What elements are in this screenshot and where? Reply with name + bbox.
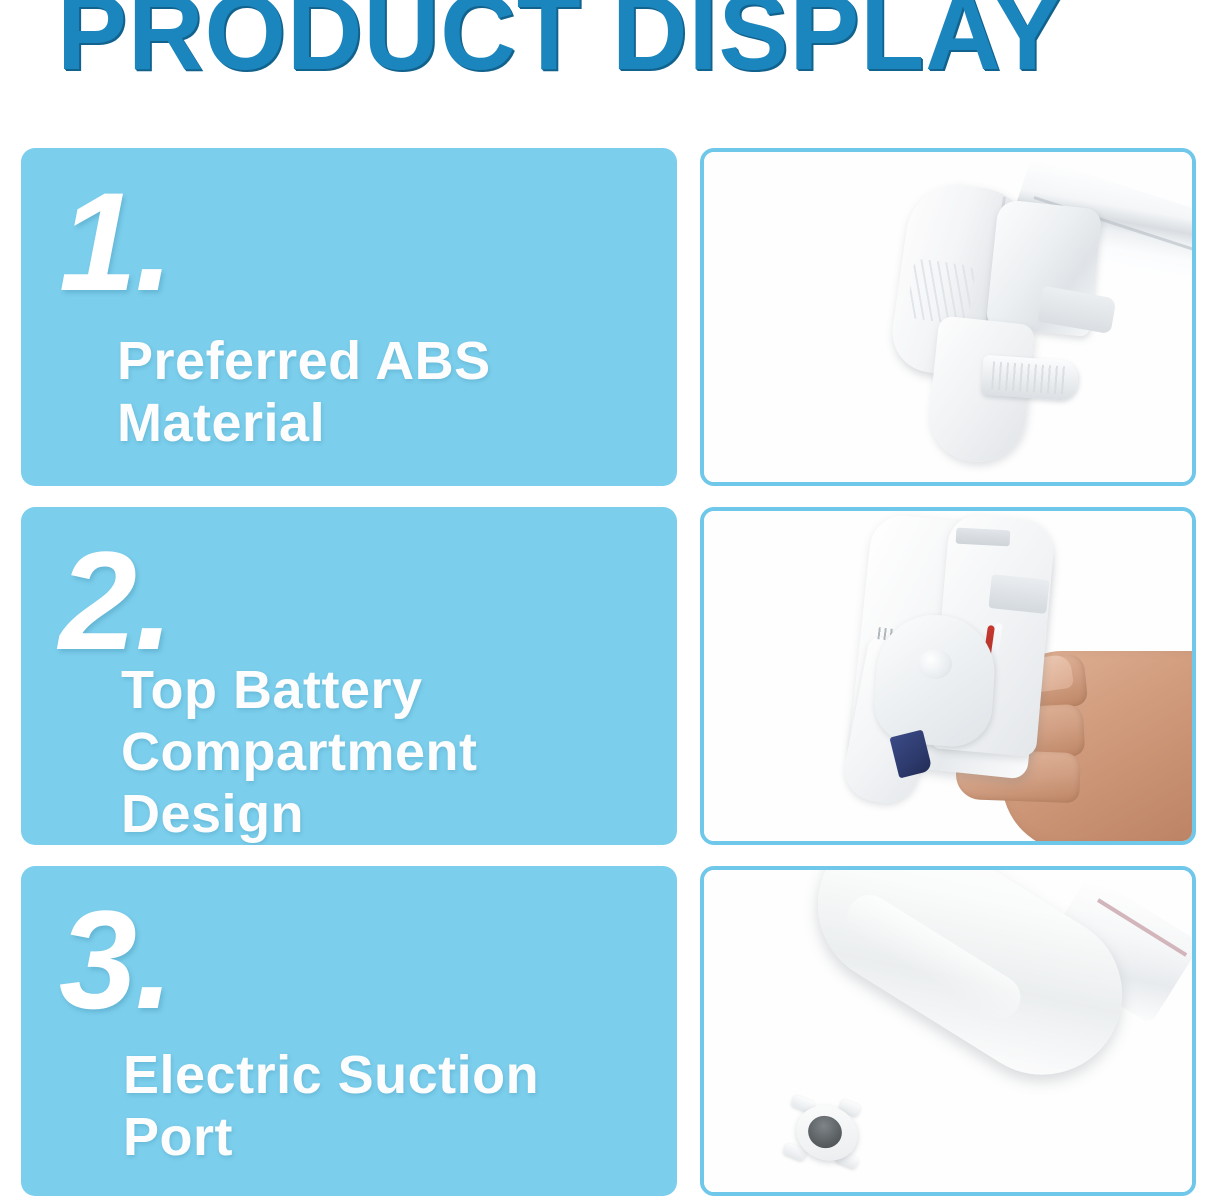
feature-photo-panel-3[interactable] [700,866,1196,1196]
feature-card-1[interactable]: 1. Preferred ABS Material [21,148,677,486]
product-photo-suction-port [704,870,1192,1192]
feature-label-2: Top Battery Compartment Design [121,659,653,845]
feature-label-2-line-2: Compartment Design [121,721,653,845]
feature-label-1: Preferred ABS Material [117,330,653,454]
feature-card-3[interactable]: 3. Electric Suction Port [21,866,677,1196]
lid-slot-upper [956,528,1011,547]
lid-slot-lower [988,574,1049,614]
product-photo-connector-head [704,152,1192,482]
feature-row-2: 2. Top Battery Compartment Design [0,507,1214,845]
battery-cradle-boss [918,649,952,679]
feature-photo-panel-2[interactable] [700,507,1196,845]
feature-number-1: 1. [59,182,172,302]
feature-row-3: 3. Electric Suction Port [0,866,1214,1196]
product-photo-battery-compartment [704,511,1192,841]
feature-card-2[interactable]: 2. Top Battery Compartment Design [21,507,677,845]
feature-label-3: Electric Suction Port [123,1044,653,1168]
feature-label-2-line-1: Top Battery [121,659,653,721]
feature-photo-panel-1[interactable] [700,148,1196,486]
page-title-banner: PRODUCT DISPLAY [0,0,1214,96]
connector-grip-ribs [906,258,976,326]
feature-number-2: 2. [59,541,172,661]
page-title: PRODUCT DISPLAY [57,0,1063,86]
feature-number-3: 3. [59,900,172,1020]
connector-lever-ribs [991,361,1067,394]
feature-row-1: 1. Preferred ABS Material [0,148,1214,486]
